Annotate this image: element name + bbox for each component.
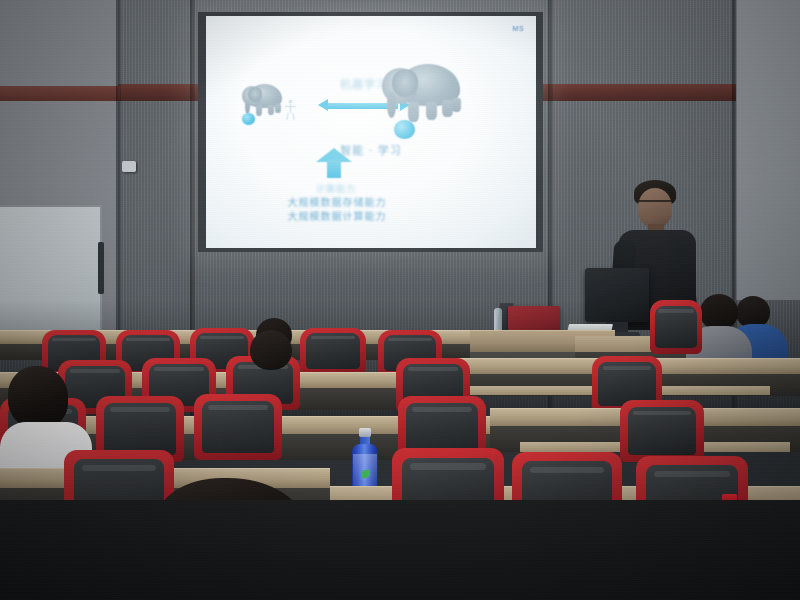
large-elephant-icon xyxy=(382,60,464,132)
presenter-head xyxy=(638,188,672,228)
slide-logo: MS xyxy=(513,26,525,33)
slide-bottom-line-2: 大规模数据计算能力 xyxy=(266,208,408,223)
red-laptop xyxy=(508,306,560,333)
classroom-photo: MS 机器学习 xyxy=(0,0,800,600)
large-blue-ball xyxy=(394,120,415,139)
left-wall-stripe xyxy=(0,86,120,101)
whiteboard-edge xyxy=(98,242,104,294)
student-mid-center xyxy=(240,330,302,392)
small-blue-ball xyxy=(242,113,255,125)
floor xyxy=(0,500,800,600)
chair xyxy=(300,328,366,374)
wall-outlet-icon xyxy=(122,161,136,172)
desktop-monitor xyxy=(585,268,649,322)
slide-bottom-line-1: 大规模数据存储能力 xyxy=(266,194,408,209)
stick-figure-icon xyxy=(284,100,296,120)
glasses-icon xyxy=(639,200,671,206)
up-arrow-icon xyxy=(316,148,352,178)
chair xyxy=(194,394,282,460)
chair xyxy=(620,400,704,462)
chair xyxy=(650,300,702,354)
right-wall xyxy=(736,0,800,300)
